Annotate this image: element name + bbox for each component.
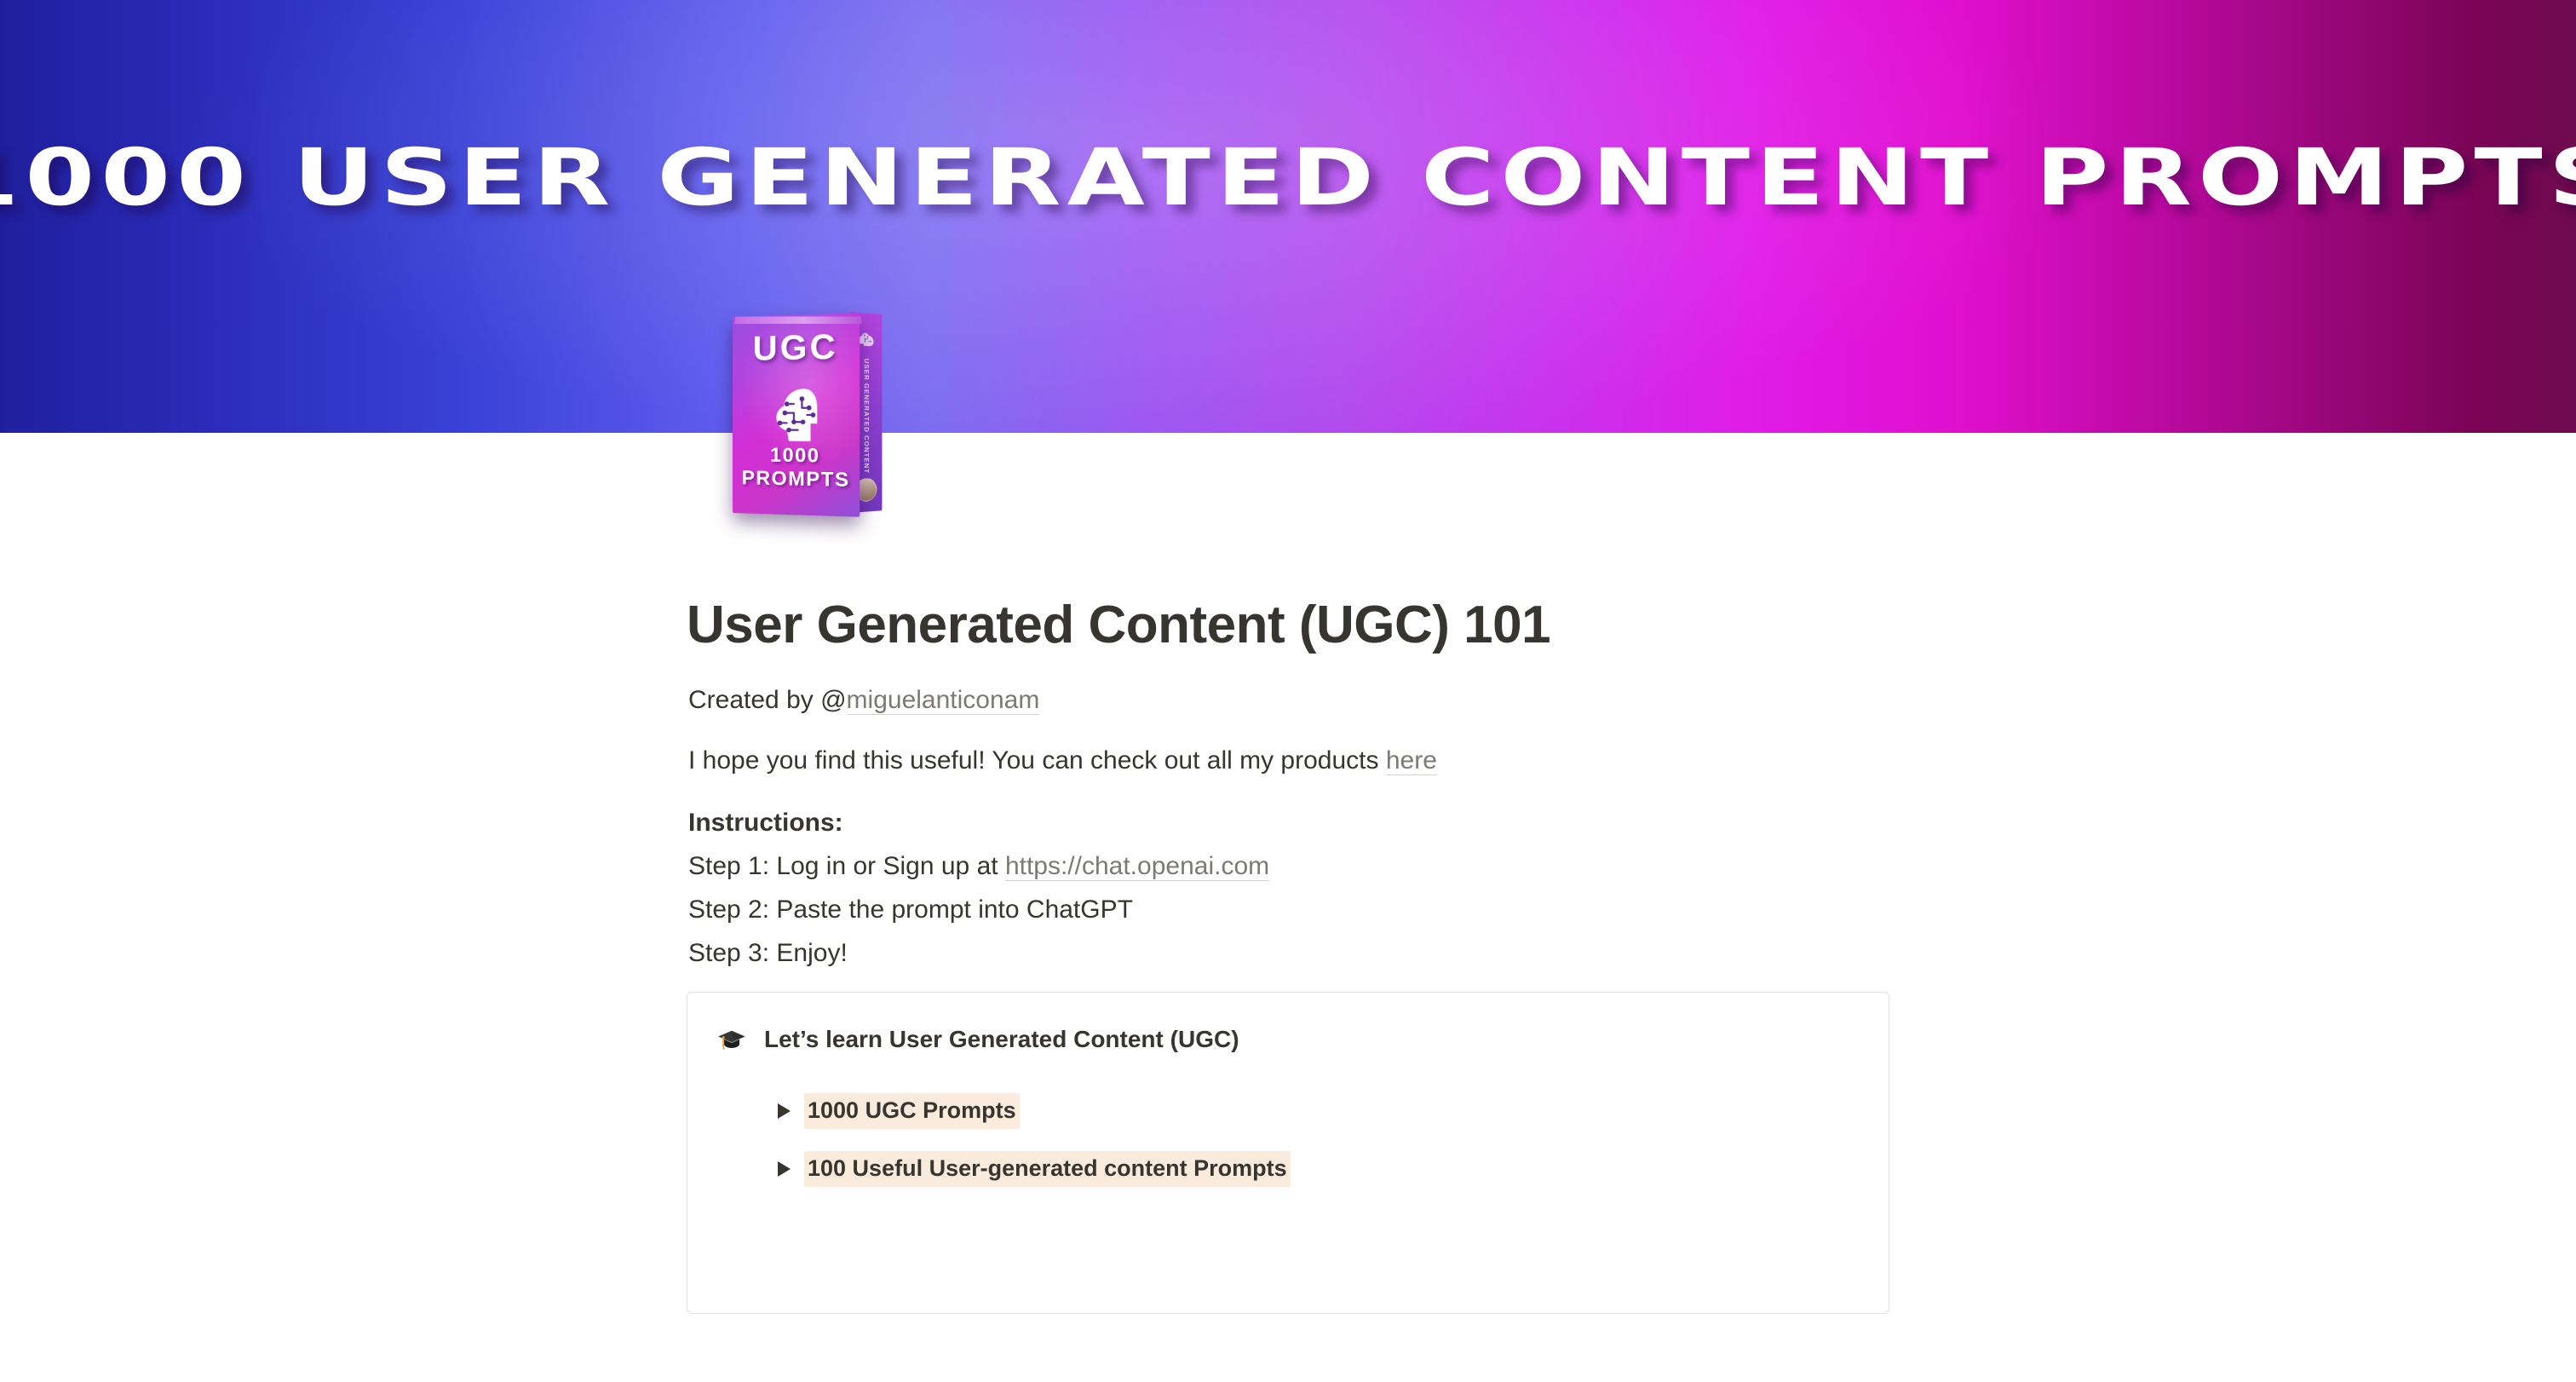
cover-banner: 1000 USER GENERATED CONTENT PROMPTS xyxy=(0,0,2576,433)
instructions-step-1: Step 1: Log in or Sign up at https://cha… xyxy=(687,844,1896,888)
chatgpt-url-link[interactable]: https://chat.openai.com xyxy=(1005,852,1269,881)
callout-toggle-list: 1000 UGC Prompts 100 Useful User-generat… xyxy=(687,1088,1889,1192)
toggle-item-label[interactable]: 1000 UGC Prompts xyxy=(804,1093,1020,1129)
instructions-step-3: Step 3: Enjoy! xyxy=(687,931,1896,975)
callout-box: Let’s learn User Generated Content (UGC)… xyxy=(687,992,1889,1314)
instructions-label: Instructions: xyxy=(687,801,1896,844)
product-box-brand: UGC xyxy=(733,327,860,369)
toggle-item[interactable]: 1000 UGC Prompts xyxy=(776,1088,1889,1134)
cover-banner-title: 1000 USER GENERATED CONTENT PROMPTS xyxy=(0,139,2576,217)
intro-line: I hope you find this useful! You can che… xyxy=(687,739,1896,782)
callout-header: Let’s learn User Generated Content (UGC) xyxy=(687,1018,1889,1056)
step-1-text: Step 1: Log in or Sign up at xyxy=(688,852,1005,880)
instructions-step-2: Step 2: Paste the prompt into ChatGPT xyxy=(687,888,1896,931)
graduation-cap-icon xyxy=(716,1025,747,1056)
toggle-item-label[interactable]: 100 Useful User-generated content Prompt… xyxy=(804,1151,1291,1187)
intro-text: I hope you find this useful! You can che… xyxy=(688,746,1386,774)
products-here-link[interactable]: here xyxy=(1386,746,1437,775)
created-by-prefix: Created by @ xyxy=(688,686,847,714)
product-box-top-face xyxy=(734,317,862,324)
toggle-item[interactable]: 100 Useful User-generated content Prompt… xyxy=(776,1146,1889,1192)
author-handle-link[interactable]: miguelanticonam xyxy=(847,686,1040,715)
page-title: User Generated Content (UGC) 101 xyxy=(687,596,1896,654)
chevron-right-icon[interactable] xyxy=(778,1103,791,1119)
callout-title: Let’s learn User Generated Content (UGC) xyxy=(764,1023,1239,1056)
created-by-line: Created by @miguelanticonam xyxy=(687,678,1896,722)
chevron-right-icon[interactable] xyxy=(778,1161,791,1177)
document-body: User Generated Content (UGC) 101 Created… xyxy=(687,433,1896,1314)
